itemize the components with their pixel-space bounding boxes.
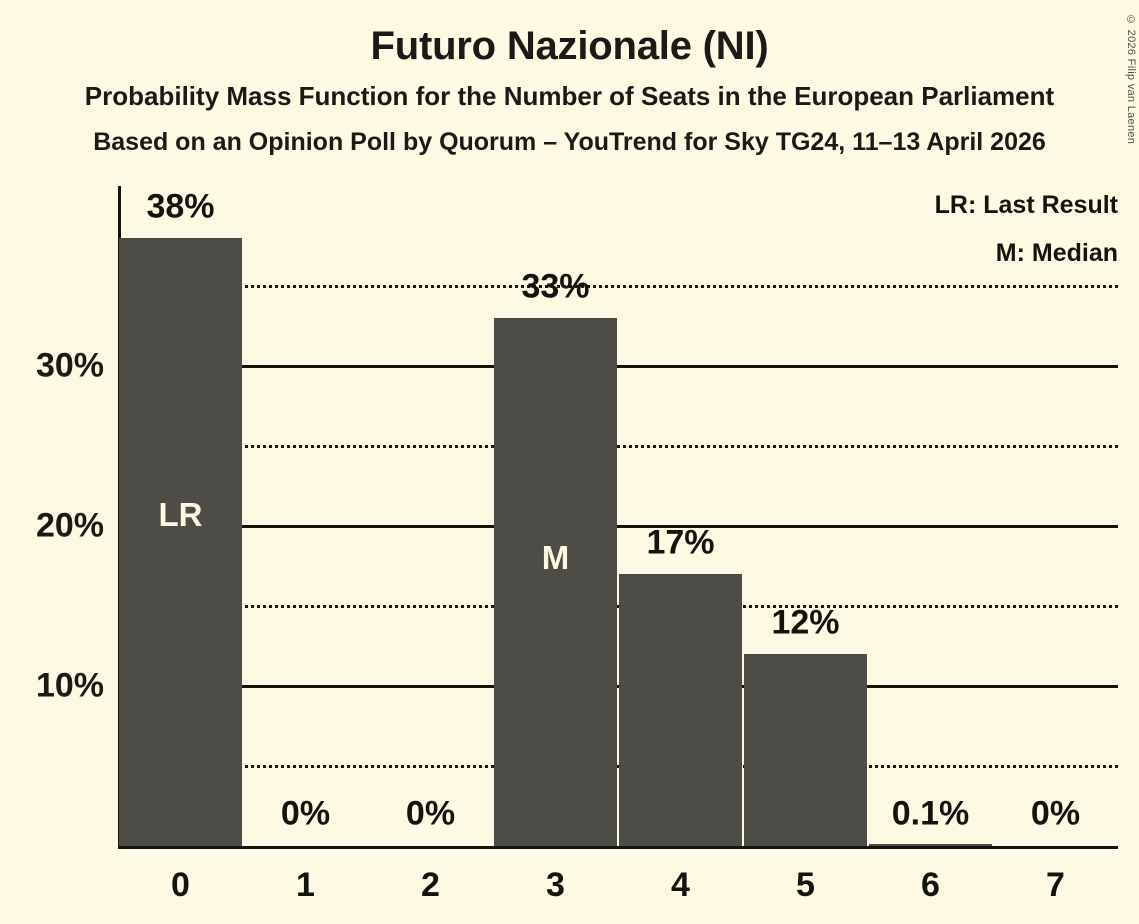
gridline-minor [118, 285, 1118, 288]
gridline-minor [118, 765, 1118, 768]
plot-area: 10%20%30%38%LR00%10%233%M317%412%50.1%60… [0, 0, 1139, 924]
x-axis-tick-label-6: 6 [921, 866, 940, 905]
gridline-major [118, 525, 1118, 528]
x-axis-tick-label-3: 3 [546, 866, 565, 905]
bar-value-label-7: 0% [1031, 795, 1080, 834]
x-axis-tick-label-7: 7 [1046, 866, 1065, 905]
bar-value-label-4: 17% [646, 524, 714, 563]
chart-root: Futuro Nazionale (NI) Probability Mass F… [0, 0, 1139, 924]
gridline-minor [118, 445, 1118, 448]
bar-value-label-6: 0.1% [892, 795, 970, 834]
bar-value-label-5: 12% [771, 604, 839, 643]
y-axis-tick-label: 10% [36, 667, 104, 706]
bar-value-label-3: 33% [521, 268, 589, 307]
bar-seats-5[interactable] [744, 654, 867, 846]
y-axis-tick-label: 30% [36, 347, 104, 386]
bar-seats-4[interactable] [619, 574, 742, 846]
bar-value-label-0: 38% [146, 188, 214, 227]
bar-value-label-2: 0% [406, 795, 455, 834]
x-axis-tick-label-2: 2 [421, 866, 440, 905]
x-axis-tick-label-4: 4 [671, 866, 690, 905]
bar-marker-lr: LR [159, 496, 203, 534]
x-axis-tick-label-0: 0 [171, 866, 190, 905]
x-axis-tick-label-5: 5 [796, 866, 815, 905]
x-axis-line [118, 846, 1118, 849]
bar-seats-6[interactable] [869, 844, 992, 846]
y-axis-tick-label: 20% [36, 507, 104, 546]
x-axis-tick-label-1: 1 [296, 866, 315, 905]
bar-value-label-1: 0% [281, 795, 330, 834]
bar-seats-0[interactable] [119, 238, 242, 846]
bar-marker-m: M [542, 539, 570, 577]
gridline-minor [118, 605, 1118, 608]
gridline-major [118, 365, 1118, 368]
bar-seats-3[interactable] [494, 318, 617, 846]
gridline-major [118, 685, 1118, 688]
